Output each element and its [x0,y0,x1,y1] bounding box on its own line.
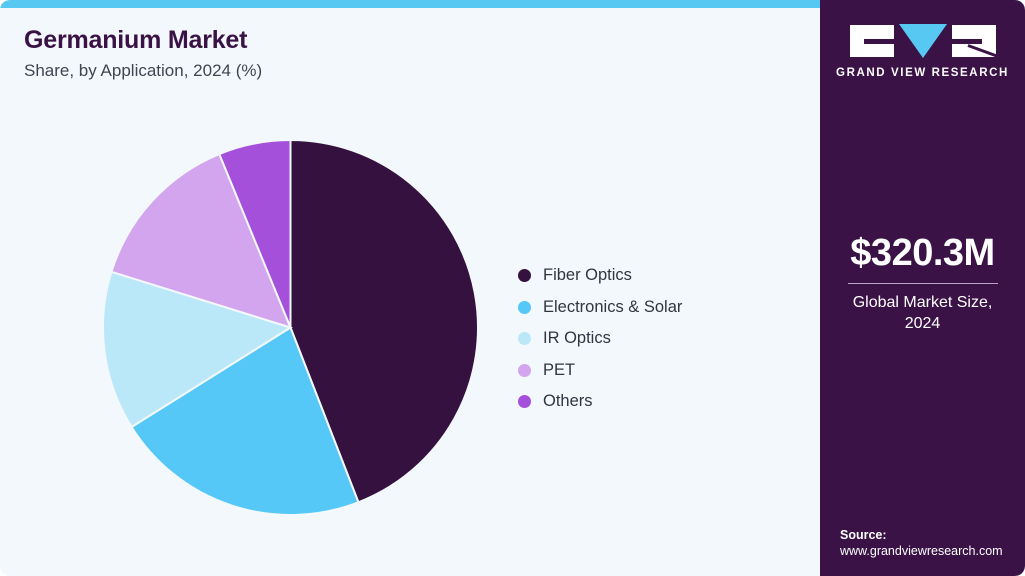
legend-item[interactable]: Fiber Optics [518,260,682,292]
logo-marks [820,24,1025,58]
pie-chart [103,140,478,515]
legend-item-label: IR Optics [543,329,611,348]
chart-card: Germanium Market Share, by Application, … [0,0,1025,576]
source-label: Source: [840,528,1025,542]
legend-item-label: Fiber Optics [543,266,632,285]
logo-letter-v-icon [899,24,947,58]
legend-item[interactable]: IR Optics [518,323,682,355]
chart-area: Germanium Market Share, by Application, … [0,8,820,576]
legend-color-swatch-icon [518,364,531,377]
brand-logo: GRAND VIEW RESEARCH [820,24,1025,79]
legend-item-label: Others [543,392,593,411]
logo-wordmark: GRAND VIEW RESEARCH [820,67,1025,79]
page-title: Germanium Market [24,26,262,55]
legend-item-label: PET [543,361,575,380]
legend-item[interactable]: Others [518,386,682,418]
market-size-value: $320.3M [820,234,1025,274]
market-size-block: $320.3M Global Market Size, 2024 [820,234,1025,335]
legend-item[interactable]: Electronics & Solar [518,292,682,324]
pie-slice-group [103,140,478,515]
page-subtitle: Share, by Application, 2024 (%) [24,61,262,81]
legend-item-label: Electronics & Solar [543,298,682,317]
logo-letter-g-icon [850,25,894,57]
legend-color-swatch-icon [518,395,531,408]
source-block: Source: www.grandviewresearch.com [840,528,1025,558]
title-block: Germanium Market Share, by Application, … [24,26,262,81]
chart-legend: Fiber OpticsElectronics & SolarIR Optics… [518,260,682,418]
legend-color-swatch-icon [518,301,531,314]
source-url[interactable]: www.grandviewresearch.com [840,544,1025,558]
market-size-caption: Global Market Size, 2024 [820,292,1025,335]
side-panel: GRAND VIEW RESEARCH $320.3M Global Marke… [820,0,1025,576]
legend-item[interactable]: PET [518,355,682,387]
logo-letter-r-icon [952,25,996,57]
pie-chart-svg [103,140,478,515]
legend-color-swatch-icon [518,332,531,345]
stat-divider [848,283,998,284]
legend-color-swatch-icon [518,269,531,282]
